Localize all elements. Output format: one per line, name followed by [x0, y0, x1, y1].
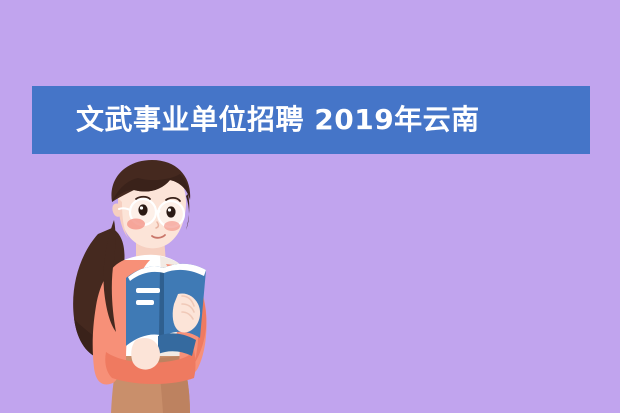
book-text-line-2 — [136, 300, 154, 305]
hair-right-strand — [186, 194, 189, 230]
left-cheek — [127, 219, 145, 230]
thumbnail-canvas: 文武事业单位招聘 2019年云南 — [0, 0, 620, 413]
right-eye-highlight — [168, 208, 171, 211]
page-title: 文武事业单位招聘 2019年云南 — [76, 106, 480, 134]
title-banner: 文武事业单位招聘 2019年云南 — [32, 86, 590, 154]
book-text-line-1 — [136, 288, 160, 293]
left-eye-highlight — [140, 206, 143, 209]
right-cheek — [164, 221, 180, 231]
left-hand-shape — [131, 338, 160, 370]
girl-reading-book-illustration — [40, 160, 270, 413]
glasses-bridge — [156, 211, 159, 213]
left-eye — [138, 204, 147, 215]
right-eye — [166, 206, 175, 217]
